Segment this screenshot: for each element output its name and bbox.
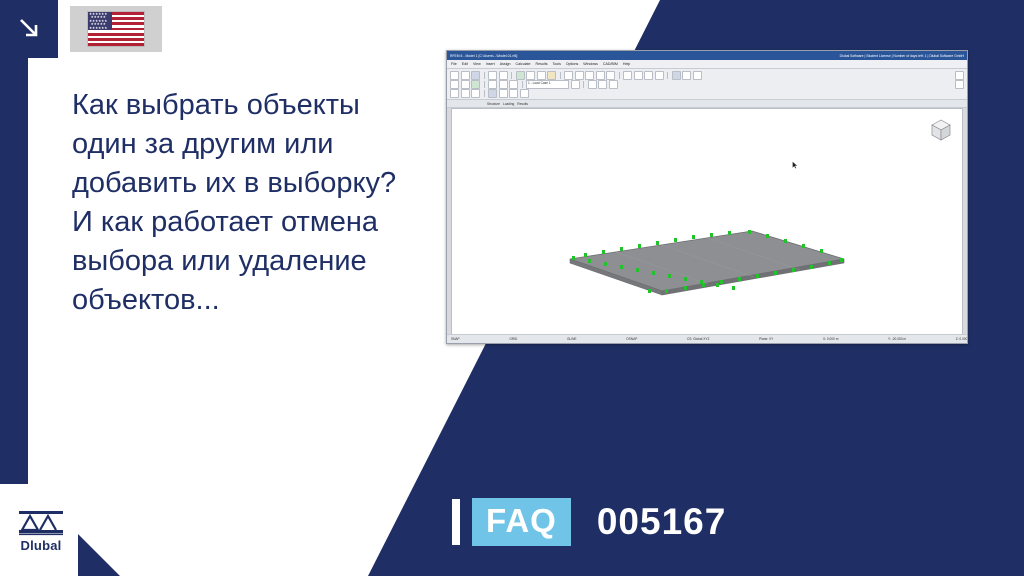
tool-icon-e[interactable]: [499, 89, 508, 98]
tool-icon-f[interactable]: [509, 89, 518, 98]
toolbar-separator: [522, 81, 523, 88]
faq-accent-bar: [452, 499, 460, 545]
new-file-icon[interactable]: [450, 71, 459, 80]
toolbar-separator: [484, 72, 485, 79]
application-screenshot: RFEM 6 - Model 1 [C:\Users\...\Model-01.…: [446, 50, 968, 344]
menu-item-edit[interactable]: Edit: [462, 62, 468, 66]
model-viewport[interactable]: [451, 108, 963, 335]
layer-icon[interactable]: [488, 80, 497, 89]
line-icon[interactable]: [575, 71, 584, 80]
status-grid[interactable]: GRID: [509, 337, 517, 341]
toolbar-separator: [619, 72, 620, 79]
toolbar-row-1[interactable]: [450, 71, 964, 79]
open-file-icon[interactable]: [461, 71, 470, 80]
brand-logo: Dlubal: [0, 484, 78, 576]
status-snap-modes[interactable]: SNAP: [451, 337, 460, 341]
menu-item-calculate[interactable]: Calculate: [516, 62, 531, 66]
toolbar[interactable]: 1 - Load Case 1: [447, 69, 967, 100]
status-coord-z: Z: 0.000 m: [956, 337, 968, 341]
menu-item-assign[interactable]: Assign: [500, 62, 511, 66]
menu-item-cadbim[interactable]: CAD/BIM: [603, 62, 618, 66]
page-title: Как выбрать объекты один за другим или д…: [72, 86, 422, 320]
status-coordinate-system: CS: Global XYZ: [687, 337, 710, 341]
tool-icon-g[interactable]: [520, 89, 529, 98]
snap-icon[interactable]: [450, 80, 459, 89]
menu-item-windows[interactable]: Windows: [583, 62, 598, 66]
tab-results[interactable]: Results: [517, 102, 528, 106]
load-icon[interactable]: [634, 71, 643, 80]
window-title: RFEM 6 - Model 1 [C:\Users\...\Model-01.…: [450, 54, 517, 58]
us-flag-icon: ★★★★★★ ★★★★★ ★★★★★★ ★★★★★ ★★★★★★: [88, 12, 144, 46]
status-plane: Plane: XY: [759, 337, 773, 341]
menu-item-insert[interactable]: Insert: [486, 62, 495, 66]
view-cube-icon[interactable]: [928, 117, 954, 143]
download-arrow-icon: [0, 0, 58, 58]
toolbar-separator: [583, 81, 584, 88]
view-tabstrip[interactable]: Structure Loading Results: [447, 100, 967, 108]
language-flag-button[interactable]: ★★★★★★ ★★★★★ ★★★★★★ ★★★★★ ★★★★★★: [70, 6, 162, 52]
tool-icon-c[interactable]: [471, 89, 480, 98]
section-icon[interactable]: [509, 80, 518, 89]
faq-number: 005167: [597, 501, 726, 543]
slab-surface: [570, 231, 844, 291]
results-icon[interactable]: [672, 71, 681, 80]
select-icon[interactable]: [516, 71, 525, 80]
help-icon[interactable]: [955, 71, 964, 80]
menu-item-help[interactable]: Help: [623, 62, 630, 66]
tab-loading[interactable]: Loading: [503, 102, 514, 106]
calculate-icon[interactable]: [655, 71, 664, 80]
visibility-icon[interactable]: [499, 80, 508, 89]
undo-icon[interactable]: [488, 71, 497, 80]
faq-badge: FAQ 005167: [452, 498, 726, 546]
menu-item-options[interactable]: Options: [566, 62, 578, 66]
surface-icon[interactable]: [596, 71, 605, 80]
tool-icon-b[interactable]: [461, 89, 470, 98]
toolbar-separator: [484, 90, 485, 97]
mouse-cursor-icon: [792, 161, 798, 169]
faq-label: FAQ: [472, 498, 571, 546]
grid-icon[interactable]: [461, 80, 470, 89]
mesh-icon[interactable]: [644, 71, 653, 80]
redo-icon[interactable]: [499, 71, 508, 80]
view-top-icon[interactable]: [598, 80, 607, 89]
toolbar-row-2[interactable]: 1 - Load Case 1: [450, 80, 964, 88]
toolbar-row-3[interactable]: [450, 89, 964, 97]
top-left-panel: ★★★★★★ ★★★★★ ★★★★★★ ★★★★★ ★★★★★★: [0, 0, 166, 58]
pan-icon[interactable]: [537, 71, 546, 80]
dlubal-logo-icon: [18, 510, 64, 536]
toolbar-separator: [484, 81, 485, 88]
menu-item-results[interactable]: Results: [536, 62, 548, 66]
menu-bar[interactable]: File Edit View Insert Assign Calculate R…: [447, 60, 967, 69]
member-icon[interactable]: [585, 71, 594, 80]
save-icon[interactable]: [471, 71, 480, 80]
status-coord-x: X: 0.000 m: [823, 337, 838, 341]
load-case-selector[interactable]: 1 - Load Case 1: [526, 80, 569, 89]
brand-name: Dlubal: [21, 538, 62, 553]
menu-item-view[interactable]: View: [473, 62, 481, 66]
license-info: Dlubal Software | Student License | Numb…: [840, 54, 964, 58]
node-icon[interactable]: [564, 71, 573, 80]
status-bar: SNAP GRID GLINE OSNAP CS: Global XYZ Pla…: [447, 334, 968, 343]
zoom-icon[interactable]: [526, 71, 535, 80]
status-osnap[interactable]: OSNAP: [626, 337, 637, 341]
chevron-down-icon[interactable]: [571, 80, 580, 89]
render-icon[interactable]: [547, 71, 556, 80]
model-graphics: [452, 109, 962, 334]
view-iso-icon[interactable]: [609, 80, 618, 89]
print-icon[interactable]: [682, 71, 691, 80]
support-icon[interactable]: [623, 71, 632, 80]
toolbar-separator: [511, 72, 512, 79]
settings-icon[interactable]: [693, 71, 702, 80]
window-titlebar: RFEM 6 - Model 1 [C:\Users\...\Model-01.…: [447, 51, 967, 60]
tool-icon-d[interactable]: [488, 89, 497, 98]
solid-icon[interactable]: [606, 71, 615, 80]
toolbar-separator: [667, 72, 668, 79]
tool-icon-a[interactable]: [450, 89, 459, 98]
menu-item-tools[interactable]: Tools: [553, 62, 561, 66]
view-front-icon[interactable]: [588, 80, 597, 89]
toolbar-separator: [560, 72, 561, 79]
menu-item-file[interactable]: File: [451, 62, 457, 66]
tab-structure[interactable]: Structure: [487, 102, 500, 106]
object-snap-icon[interactable]: [471, 80, 480, 89]
status-coord-y: Y: -20.053 m: [888, 337, 906, 341]
slide-root: ★★★★★★ ★★★★★ ★★★★★★ ★★★★★ ★★★★★★ Как выб…: [0, 0, 1024, 576]
status-gline[interactable]: GLINE: [567, 337, 577, 341]
window-arrange-icon[interactable]: [955, 80, 964, 89]
